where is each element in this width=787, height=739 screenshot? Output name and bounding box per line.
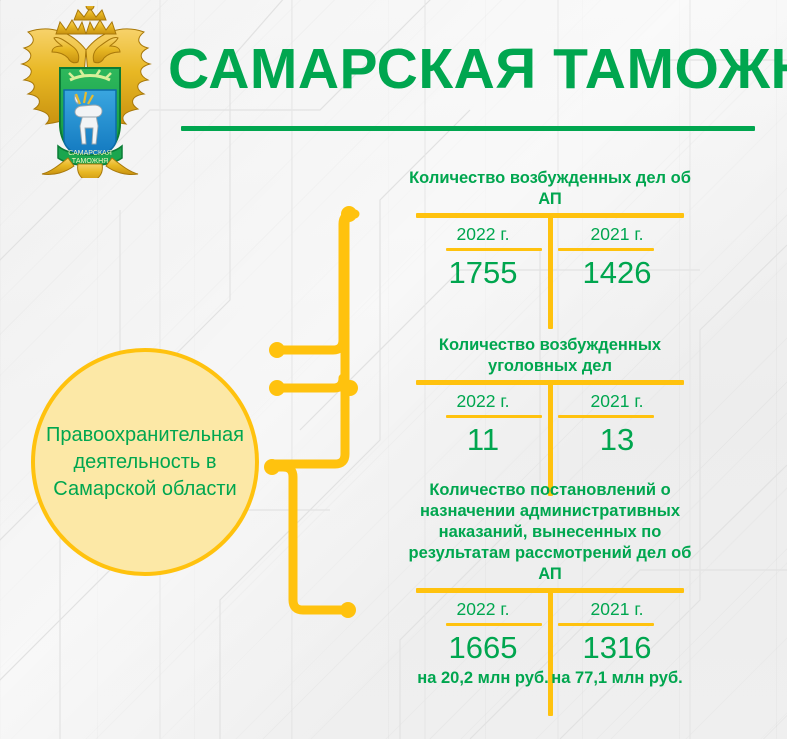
column-value: 1316: [550, 626, 684, 666]
central-topic-circle: Правоохранительная деятельность в Самарс…: [31, 348, 259, 576]
column-year-label: 2022 г.: [416, 385, 550, 415]
svg-text:САМАРСКАЯ: САМАРСКАЯ: [68, 150, 112, 157]
stat-block-administrative-cases: Количество возбужденных дел об АП 2022 г…: [405, 168, 695, 291]
poster-header: САМАРСКАЯ ТАМОЖНЯ САМАРСКАЯ ТАМОЖНЯ: [0, 0, 787, 150]
connector-endpoints: [264, 206, 358, 618]
column-value: 1426: [550, 251, 684, 291]
connector-path-1: [275, 214, 355, 464]
infographic-poster: САМАРСКАЯ ТАМОЖНЯ САМАРСКАЯ ТАМОЖНЯ: [0, 0, 787, 739]
stat-table: 2022 г. 1665 на 20,2 млн руб. 2021 г. 13…: [416, 588, 684, 689]
column-year-label: 2022 г.: [416, 593, 550, 623]
column-year-label: 2021 г.: [550, 385, 684, 415]
stat-table: 2022 г. 1755 2021 г. 1426: [416, 213, 684, 291]
stat-title: Количество возбужденных уголовных дел: [408, 335, 693, 377]
column-value: 13: [550, 418, 684, 458]
stat-column-2022: 2022 г. 1665 на 20,2 млн руб.: [416, 593, 550, 689]
column-value: 1755: [416, 251, 550, 291]
column-year-label: 2021 г.: [550, 218, 684, 248]
title-underline: [181, 126, 755, 131]
connector-3: [272, 467, 345, 610]
column-value: 11: [416, 418, 550, 458]
stat-block-criminal-cases: Количество возбужденных уголовных дел 20…: [405, 335, 695, 458]
column-note: на 20,2 млн руб.: [416, 666, 550, 689]
stat-title: Количество возбужденных дел об АП: [408, 168, 693, 210]
connector-path-2: [277, 378, 343, 388]
stat-block-administrative-penalties: Количество постановлений о назначении ад…: [405, 480, 695, 689]
stat-column-2021: 2021 г. 1426: [550, 218, 684, 291]
connector-2: [277, 378, 344, 388]
stat-column-2021: 2021 г. 1316 на 77,1 млн руб.: [550, 593, 684, 689]
stat-column-2021: 2021 г. 13: [550, 385, 684, 458]
stat-column-2022: 2022 г. 1755: [416, 218, 550, 291]
column-note: на 77,1 млн руб.: [550, 666, 684, 689]
central-topic-label: Правоохранительная деятельность в Самарс…: [39, 422, 251, 503]
page-title: САМАРСКАЯ ТАМОЖНЯ: [168, 38, 768, 100]
column-year-label: 2021 г.: [550, 593, 684, 623]
connector-1: [277, 214, 353, 350]
stat-column-2022: 2022 г. 11: [416, 385, 550, 458]
stat-title: Количество постановлений о назначении ад…: [408, 480, 693, 585]
column-year-label: 2022 г.: [416, 218, 550, 248]
coat-of-arms-icon: САМАРСКАЯ ТАМОЖНЯ: [12, 6, 160, 178]
stat-table: 2022 г. 11 2021 г. 13: [416, 380, 684, 458]
column-value: 1665: [416, 626, 550, 666]
